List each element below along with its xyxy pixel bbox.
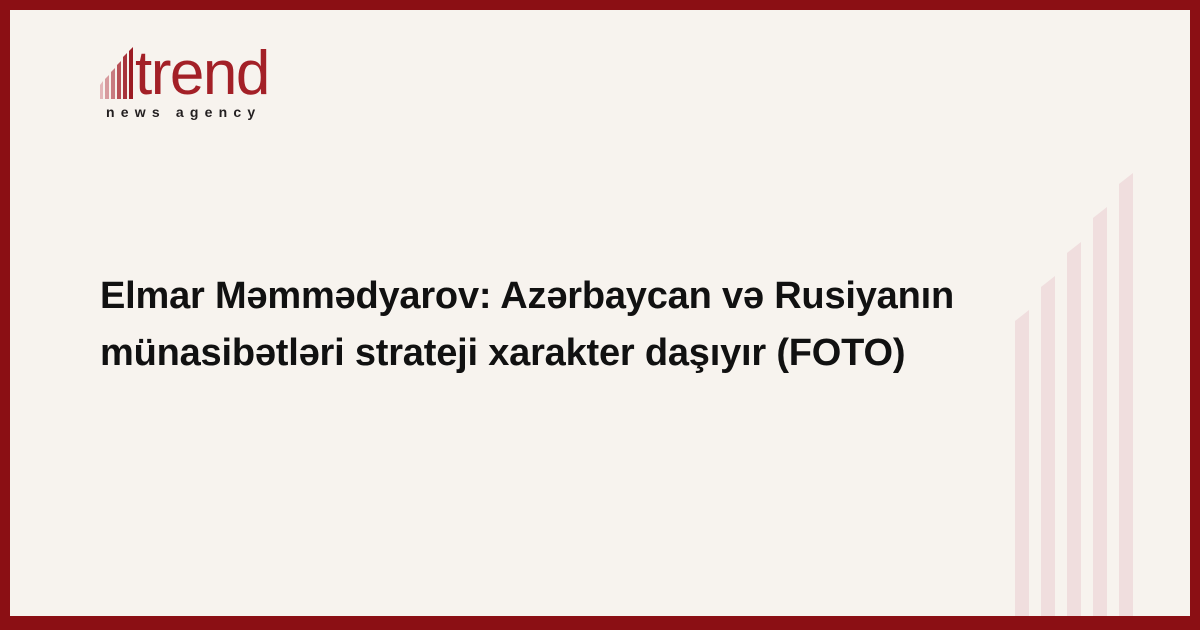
watermark-bar-1	[1015, 310, 1029, 616]
logo-wordmark: trend	[135, 45, 269, 103]
watermark-bar-3	[1067, 242, 1081, 616]
watermark-bar-5	[1119, 173, 1133, 616]
card-canvas: trend news agency Elmar Məmmədyarov: Azə…	[10, 10, 1190, 616]
watermark-bar-4	[1093, 207, 1107, 616]
social-share-card: trend news agency Elmar Məmmədyarov: Azə…	[0, 0, 1200, 630]
brand-logo[interactable]: trend news agency	[100, 35, 390, 120]
logo-lockup: trend	[100, 35, 390, 99]
headline-title: Elmar Məmmədyarov: Azərbaycan və Rusiyan…	[100, 268, 990, 382]
ascending-bars-watermark	[1015, 173, 1175, 616]
ascending-bars-mark-icon	[100, 47, 134, 99]
watermark-bar-2	[1041, 276, 1055, 616]
